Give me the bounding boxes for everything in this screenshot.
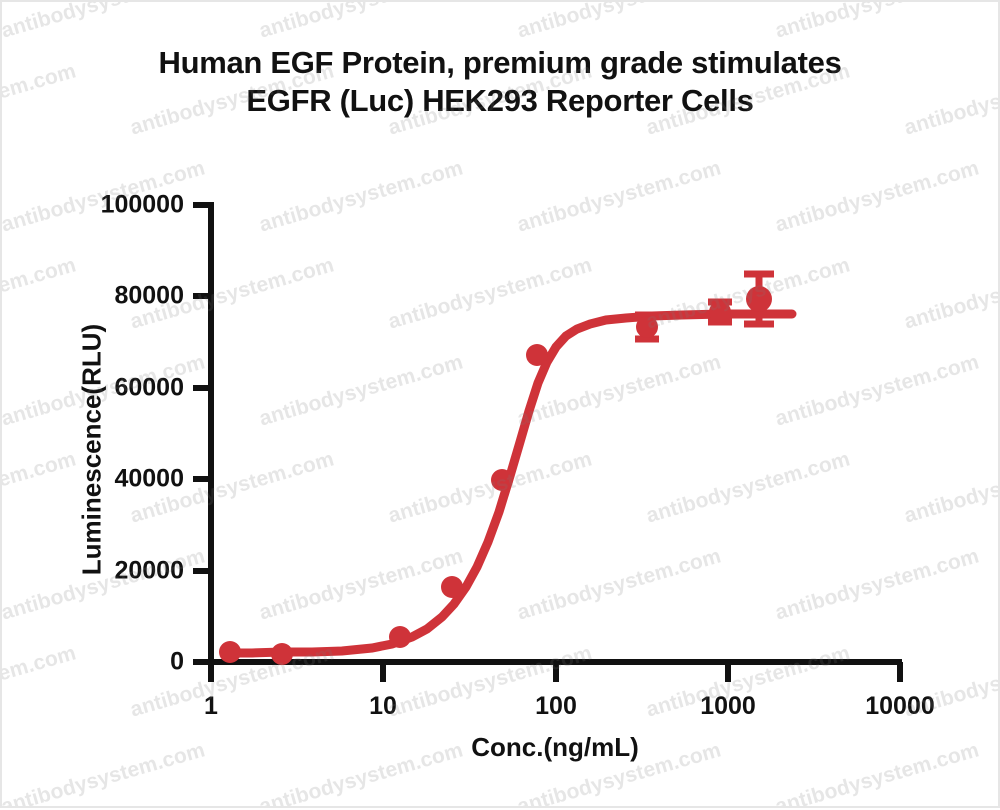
data-point xyxy=(709,301,731,323)
data-point xyxy=(491,469,513,491)
x-tick-label-1: 1 xyxy=(204,692,218,721)
chart-title: Human EGF Protein, premium grade stimula… xyxy=(2,44,998,120)
y-tick-label-0: 0 xyxy=(2,648,184,677)
x-tick-label-10: 10 xyxy=(369,692,397,721)
y-axis-label: Luminescence(RLU) xyxy=(77,290,108,610)
x-tick-label-1000: 1000 xyxy=(700,692,756,721)
data-point xyxy=(219,641,241,663)
x-tick-label-10000: 10000 xyxy=(865,692,935,721)
data-point xyxy=(746,286,772,312)
figure-root: antibodysystem.comantibodysystem.comanti… xyxy=(0,0,1000,808)
data-point xyxy=(636,316,658,338)
data-point xyxy=(526,344,548,366)
data-point xyxy=(271,643,293,665)
chart-title-line-2: EGFR (Luc) HEK293 Reporter Cells xyxy=(2,82,998,120)
chart-svg xyxy=(2,2,1000,810)
x-axis-label: Conc.(ng/mL) xyxy=(210,732,900,763)
data-point xyxy=(389,626,411,648)
axis-lines xyxy=(208,202,902,664)
y-tick-label-100000: 100000 xyxy=(2,191,184,220)
data-points xyxy=(219,286,772,665)
chart-area: 100000 80000 60000 40000 20000 0 1 10 10… xyxy=(2,2,1000,810)
chart-title-line-1: Human EGF Protein, premium grade stimula… xyxy=(2,44,998,82)
x-tick-label-100: 100 xyxy=(535,692,577,721)
data-point xyxy=(441,576,463,598)
